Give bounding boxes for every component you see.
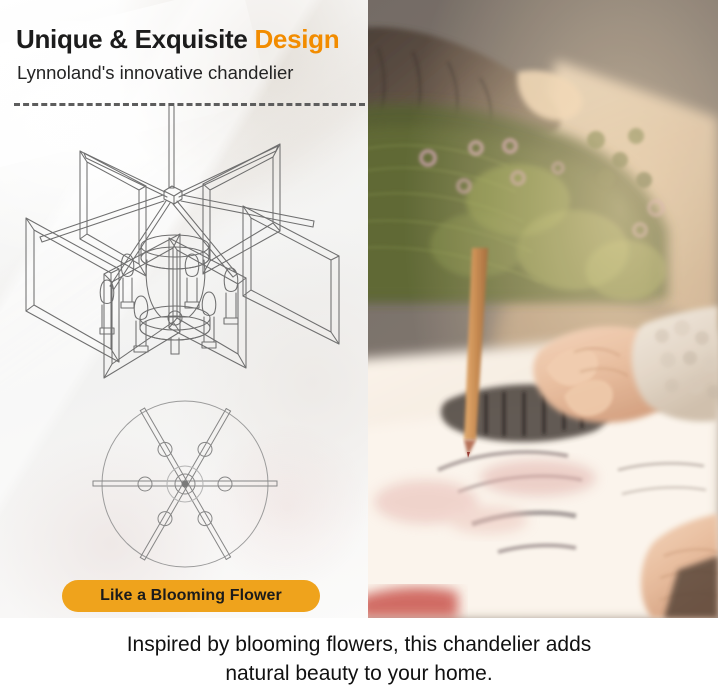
status-badge: Like a Blooming Flower [62, 580, 320, 612]
left-illustration-panel: Unique & Exquisite Design Lynnoland's in… [0, 0, 368, 618]
page-title: Unique & Exquisite Design [16, 24, 339, 55]
caption-block: Inspired by blooming flowers, this chand… [0, 618, 718, 700]
page-subtitle: Lynnoland's innovative chandelier [17, 62, 293, 84]
page-title-main: Unique & Exquisite [16, 24, 254, 54]
product-feature-page: Unique & Exquisite Design Lynnoland's in… [0, 0, 718, 700]
caption-line-1: Inspired by blooming flowers, this chand… [127, 630, 592, 659]
caption-line-2: natural beauty to your home. [225, 659, 492, 688]
chandelier-perspective-illustration [14, 106, 362, 396]
status-badge-label: Like a Blooming Flower [100, 587, 282, 605]
page-title-accent: Design [254, 24, 339, 54]
lifestyle-photo [368, 0, 718, 618]
chandelier-top-view-illustration [88, 388, 283, 580]
